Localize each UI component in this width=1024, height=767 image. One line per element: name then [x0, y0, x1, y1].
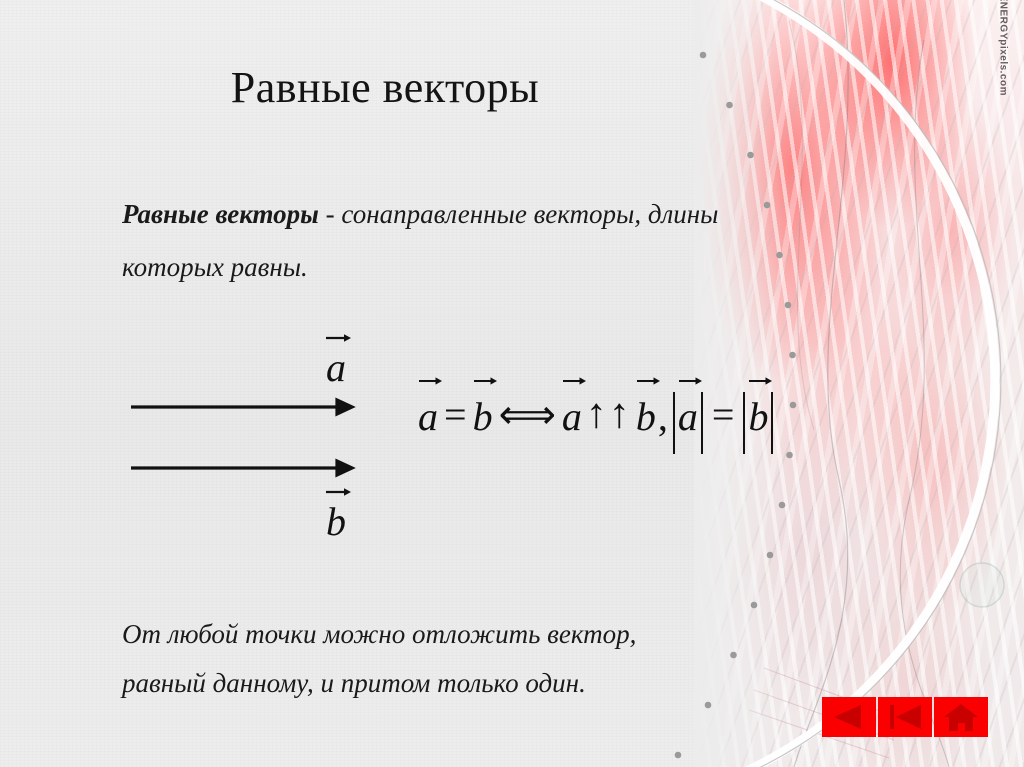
- nav-home-button[interactable]: [934, 697, 988, 737]
- skip-back-icon: [885, 703, 925, 731]
- presentation-slide: ENERGYpixels.com Равные векторы: [0, 0, 1024, 767]
- nav-previous-button[interactable]: [822, 697, 876, 737]
- formula-comma: ,: [656, 393, 670, 440]
- vector-arrow-accent-icon: [562, 374, 586, 387]
- formula-b-glyph-2: b: [636, 394, 656, 439]
- formula-abs-bar-close-a: [701, 392, 703, 454]
- formula-a-glyph-3: a: [678, 394, 698, 439]
- triangle-left-icon: [829, 703, 869, 731]
- formula-equals-2: =: [706, 391, 741, 438]
- formula-vector-b-1: b: [473, 393, 493, 440]
- bottom-paragraph: От любой точки можно отложить вектор, ра…: [122, 610, 782, 708]
- formula-vector-a-2: a: [562, 393, 582, 440]
- formula-b-glyph-3: b: [748, 394, 768, 439]
- formula-vector-b-2: b: [636, 393, 656, 440]
- vector-label-a-text: a: [326, 345, 346, 390]
- vector-arrow-accent-icon: [636, 374, 660, 387]
- formula-vector-a-3: a: [678, 393, 698, 440]
- formula-abs-bar-close-b: [771, 392, 773, 454]
- definition-term: Равные векторы: [122, 199, 319, 229]
- formula-equals-1: =: [438, 391, 473, 438]
- vector-arrow-accent-icon: [678, 374, 702, 387]
- vector-arrow-accent-b: [325, 485, 351, 498]
- formula-abs-bar-open-a: [673, 392, 675, 454]
- vector-label-b: b: [326, 502, 346, 542]
- vector-arrow-accent-icon: [473, 374, 497, 387]
- bottom-paragraph-line-1: От любой точки можно отложить вектор,: [122, 610, 782, 659]
- vector-arrow-accent-icon: [748, 374, 772, 387]
- vector-arrows: [118, 390, 388, 540]
- home-icon: [943, 702, 979, 732]
- formula-codirectional-symbol: ↑↑: [582, 390, 636, 438]
- vector-label-b-text: b: [326, 499, 346, 544]
- vector-label-a: a: [326, 348, 346, 388]
- formula-a-glyph-2: a: [562, 394, 582, 439]
- navigation-bar: [822, 697, 988, 737]
- nav-first-button[interactable]: [878, 697, 932, 737]
- formula-a-glyph-1: a: [418, 394, 438, 439]
- vector-diagram: a b: [118, 330, 398, 560]
- formula-abs-bar-open-b: [743, 392, 745, 454]
- vector-arrow-accent-a: [325, 331, 351, 344]
- vector-arrow-accent-icon: [418, 374, 442, 387]
- energy-watermark-label: ENERGYpixels.com: [997, 0, 1008, 96]
- formula-iff-symbol: ⟺: [493, 391, 562, 438]
- formula-vector-a-1: a: [418, 393, 438, 440]
- bottom-paragraph-line-2: равный данному, и притом только один.: [122, 659, 782, 708]
- vector-equality-formula: a = b ⟺ a ↑↑ b ,: [418, 378, 776, 440]
- definition-block: Равные векторы - сонаправленные векторы,…: [122, 188, 762, 294]
- formula-vector-b-3: b: [748, 393, 768, 440]
- page-title: Равные векторы: [0, 62, 770, 113]
- formula-b-glyph-1: b: [473, 394, 493, 439]
